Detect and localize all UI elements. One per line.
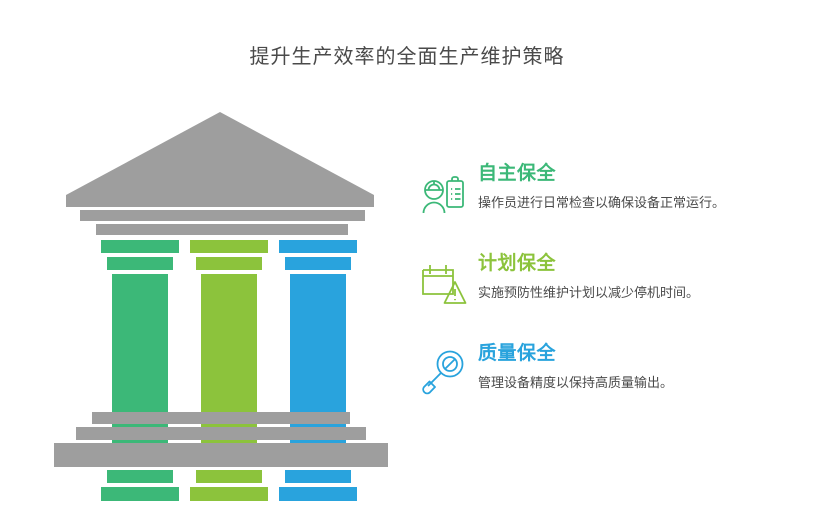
pillar-base-upper <box>196 470 262 483</box>
calendar-warning-icon <box>418 258 470 306</box>
pillar-capital-lower <box>107 257 173 270</box>
pillar-base-lower <box>190 487 268 501</box>
page-title: 提升生产效率的全面生产维护策略 <box>0 40 814 69</box>
roof-bar-upper <box>66 195 374 207</box>
pillar-autonomous-maintenance <box>101 240 179 530</box>
pillar-base-lower <box>101 487 179 501</box>
list-item: 自主保全 操作员进行日常检查以确保设备正常运行。 <box>413 164 793 228</box>
pillar-capital-top <box>190 240 268 253</box>
roof-bar-middle <box>80 210 365 221</box>
pillar-list: 自主保全 操作员进行日常检查以确保设备正常运行。 计划保全 实施预防性 <box>413 164 793 434</box>
pillar-capital-lower <box>285 257 351 270</box>
worker-clipboard-icon <box>418 168 470 216</box>
pillar-capital-top <box>101 240 179 253</box>
list-item: 计划保全 实施预防性维护计划以减少停机时间。 <box>413 254 793 318</box>
base-step-lower <box>54 443 388 467</box>
item-heading: 计划保全 <box>478 254 793 275</box>
item-heading: 自主保全 <box>478 164 793 185</box>
temple-pillars-diagram <box>48 112 394 467</box>
magnifier-icon <box>418 348 470 396</box>
base-step-middle <box>76 427 366 440</box>
pillar-base-upper <box>285 470 351 483</box>
pillar-quality-maintenance <box>279 240 357 530</box>
roof-bar-lower <box>96 224 348 235</box>
pillar-capital-top <box>279 240 357 253</box>
pillar-planned-maintenance <box>190 240 268 530</box>
base-step-upper <box>92 412 350 424</box>
item-description: 操作员进行日常检查以确保设备正常运行。 <box>478 193 740 213</box>
pillar-base-lower <box>279 487 357 501</box>
roof-pediment-triangle <box>66 112 374 195</box>
item-heading: 质量保全 <box>478 344 793 365</box>
pillar-capital-lower <box>196 257 262 270</box>
item-description: 实施预防性维护计划以减少停机时间。 <box>478 283 740 303</box>
pillar-base-upper <box>107 470 173 483</box>
list-item: 质量保全 管理设备精度以保持高质量输出。 <box>413 344 793 408</box>
item-description: 管理设备精度以保持高质量输出。 <box>478 373 740 393</box>
